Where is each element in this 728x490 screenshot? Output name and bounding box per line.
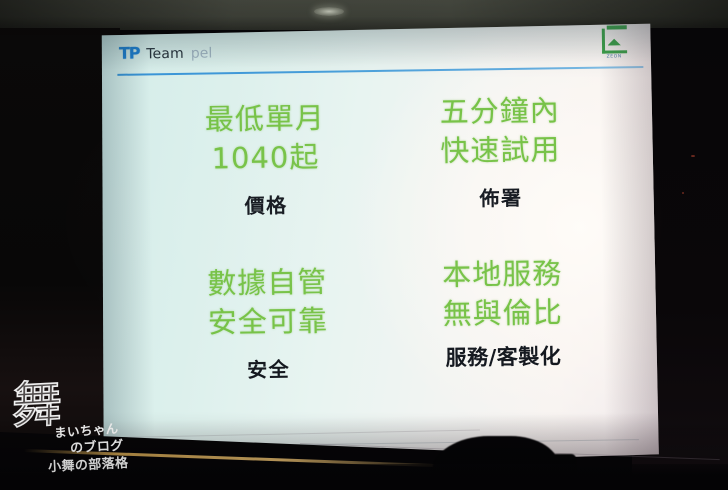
label-security: 安全 xyxy=(156,352,382,384)
headline-service-line1: 本地服務 xyxy=(442,256,563,292)
zeon-arrow-icon xyxy=(601,28,626,53)
logo-mark-tp: TP xyxy=(119,44,140,63)
logo-word-pel: pel xyxy=(191,45,213,61)
headline-security-line2: 安全可靠 xyxy=(155,301,381,343)
teampel-logo: TP Team pel xyxy=(119,42,213,62)
headline-service: 本地服務 無與倫比 xyxy=(389,254,616,334)
ceiling-downlight-icon xyxy=(314,7,344,16)
partner-logo-label: ZEON xyxy=(597,54,631,60)
lens-speck xyxy=(691,155,695,157)
logo-word-team: Team xyxy=(146,46,184,63)
label-deployment: 佈署 xyxy=(388,181,614,213)
slide-cell-service: 本地服務 無與倫比 服務/客製化 xyxy=(389,254,616,373)
headline-price-line2: 1040起 xyxy=(152,137,378,179)
slide-cell-security: 數據自管 安全可靠 安全 xyxy=(154,262,381,384)
lens-speck xyxy=(682,192,684,194)
headline-security-line1: 數據自管 xyxy=(207,265,328,301)
headline-deployment: 五分鐘內 快速試用 xyxy=(387,90,614,170)
headline-deployment-line1: 五分鐘內 xyxy=(440,93,561,129)
label-price: 價格 xyxy=(153,188,379,220)
screen-surface: TP Team pel ZEON 最低單月 1040起 xyxy=(93,22,662,474)
slide-body-grid: 最低單月 1040起 價格 五分鐘內 快速試用 佈署 xyxy=(152,94,627,429)
blog-watermark: 舞 まいちゃん のブログ 小舞の部落格 xyxy=(8,378,150,482)
headline-price: 最低單月 1040起 xyxy=(152,98,379,178)
photo-frame: TP Team pel ZEON 最低單月 1040起 xyxy=(0,0,728,490)
slide: TP Team pel ZEON 最低單月 1040起 xyxy=(93,22,662,474)
headline-security: 數據自管 安全可靠 xyxy=(154,262,381,342)
partner-logo: ZEON xyxy=(597,28,631,60)
headline-service-line2: 無與倫比 xyxy=(390,292,616,334)
projection-screen: TP Team pel ZEON 最低單月 1040起 xyxy=(93,22,662,474)
slide-cell-price: 最低單月 1040起 價格 xyxy=(152,98,379,220)
slide-cell-deployment: 五分鐘內 快速試用 佈署 xyxy=(387,90,614,212)
watermark-line-3: 小舞の部落格 xyxy=(48,452,129,475)
label-service: 服務/客製化 xyxy=(390,340,616,373)
headline-price-line1: 最低單月 xyxy=(205,101,326,137)
headline-deployment-line2: 快速試用 xyxy=(387,129,613,171)
